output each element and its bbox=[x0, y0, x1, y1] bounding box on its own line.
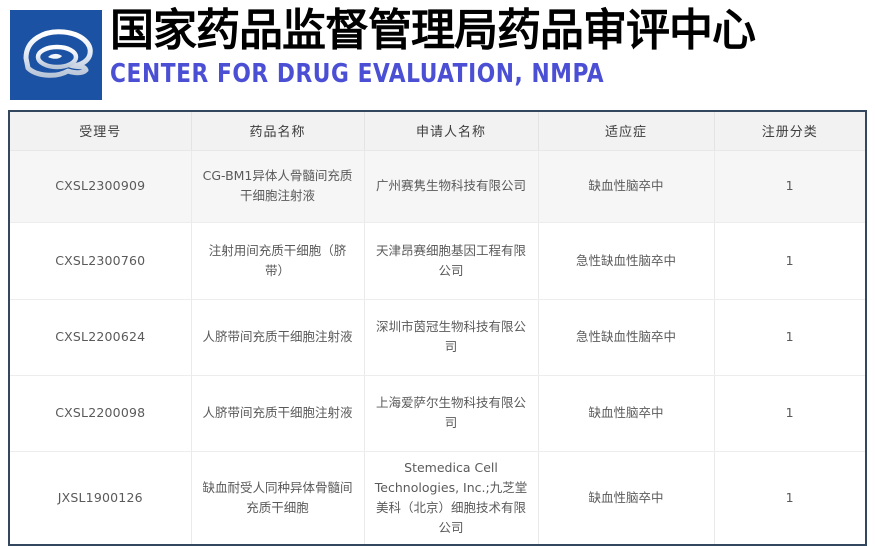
cell-applicant: 深圳市茵冠生物科技有限公司 bbox=[364, 299, 538, 375]
cell-drug-name: 注射用间充质干细胞（脐带） bbox=[191, 222, 364, 299]
cell-registration-class: 1 bbox=[714, 375, 865, 451]
cell-acceptance-no: CXSL2300760 bbox=[10, 222, 191, 299]
cell-registration-class: 1 bbox=[714, 150, 865, 222]
cell-indication: 缺血性脑卒中 bbox=[538, 451, 714, 544]
cell-applicant: 天津昂赛细胞基因工程有限公司 bbox=[364, 222, 538, 299]
page-title-en: CENTER FOR DRUG EVALUATION, NMPA bbox=[110, 58, 821, 90]
cell-indication: 缺血性脑卒中 bbox=[538, 150, 714, 222]
cell-registration-class: 1 bbox=[714, 222, 865, 299]
cell-applicant: 广州赛隽生物科技有限公司 bbox=[364, 150, 538, 222]
table-header-row: 受理号 药品名称 申请人名称 适应症 注册分类 bbox=[10, 112, 865, 150]
cell-indication: 急性缺血性脑卒中 bbox=[538, 299, 714, 375]
cell-drug-name: CG-BM1异体人骨髓间充质干细胞注射液 bbox=[191, 150, 364, 222]
column-header-registration-class[interactable]: 注册分类 bbox=[714, 112, 865, 150]
column-header-applicant[interactable]: 申请人名称 bbox=[364, 112, 538, 150]
cell-registration-class: 1 bbox=[714, 299, 865, 375]
cell-drug-name: 缺血耐受人同种异体骨髓间充质干细胞 bbox=[191, 451, 364, 544]
cell-applicant: Stemedica Cell Technologies, Inc.;九芝堂美科（… bbox=[364, 451, 538, 544]
column-header-acceptance-no[interactable]: 受理号 bbox=[10, 112, 191, 150]
cell-indication: 急性缺血性脑卒中 bbox=[538, 222, 714, 299]
cell-acceptance-no: CXSL2200624 bbox=[10, 299, 191, 375]
table-row[interactable]: CXSL2200098 人脐带间充质干细胞注射液 上海爱萨尔生物科技有限公司 缺… bbox=[10, 375, 865, 451]
masthead-titles: 国家药品监督管理局药品审评中心 CENTER FOR DRUG EVALUATI… bbox=[110, 4, 875, 90]
cell-applicant: 上海爱萨尔生物科技有限公司 bbox=[364, 375, 538, 451]
table-row[interactable]: JXSL1900126 缺血耐受人同种异体骨髓间充质干细胞 Stemedica … bbox=[10, 451, 865, 544]
registration-table-container: 受理号 药品名称 申请人名称 适应症 注册分类 CXSL2300909 CG-B… bbox=[8, 110, 867, 546]
cell-drug-name: 人脐带间充质干细胞注射液 bbox=[191, 375, 364, 451]
cell-indication: 缺血性脑卒中 bbox=[538, 375, 714, 451]
table-row[interactable]: CXSL2300760 注射用间充质干细胞（脐带） 天津昂赛细胞基因工程有限公司… bbox=[10, 222, 865, 299]
table-row[interactable]: CXSL2300909 CG-BM1异体人骨髓间充质干细胞注射液 广州赛隽生物科… bbox=[10, 150, 865, 222]
page-masthead: 国家药品监督管理局药品审评中心 CENTER FOR DRUG EVALUATI… bbox=[0, 0, 875, 100]
table-row[interactable]: CXSL2200624 人脐带间充质干细胞注射液 深圳市茵冠生物科技有限公司 急… bbox=[10, 299, 865, 375]
column-header-drug-name[interactable]: 药品名称 bbox=[191, 112, 364, 150]
page-title-cn: 国家药品监督管理局药品审评中心 bbox=[110, 6, 875, 56]
cell-registration-class: 1 bbox=[714, 451, 865, 544]
column-header-indication[interactable]: 适应症 bbox=[538, 112, 714, 150]
nmpa-swoosh-logo-icon bbox=[10, 10, 102, 100]
cell-acceptance-no: CXSL2200098 bbox=[10, 375, 191, 451]
cell-drug-name: 人脐带间充质干细胞注射液 bbox=[191, 299, 364, 375]
cell-acceptance-no: JXSL1900126 bbox=[10, 451, 191, 544]
cell-acceptance-no: CXSL2300909 bbox=[10, 150, 191, 222]
drug-registration-table: 受理号 药品名称 申请人名称 适应症 注册分类 CXSL2300909 CG-B… bbox=[10, 112, 865, 544]
